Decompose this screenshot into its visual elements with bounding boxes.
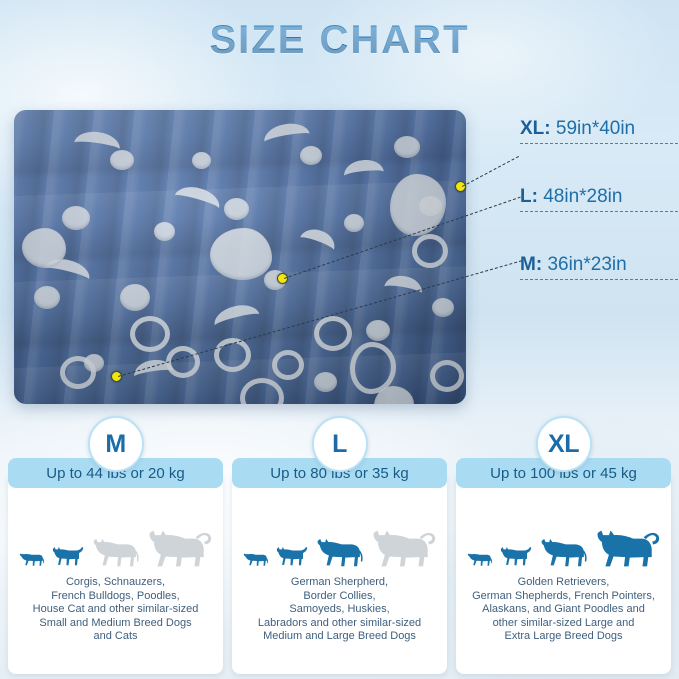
dog-silhouette-1-active	[467, 551, 497, 570]
size-label-l-underline	[520, 211, 678, 212]
breed-line: House Cat and other similar-sized	[33, 603, 199, 617]
size-label-l-prefix: L:	[520, 186, 538, 207]
breed-line: Golden Retrievers,	[472, 576, 655, 590]
size-label-m-underline	[520, 279, 678, 280]
dog-silhouette-3-active	[541, 537, 593, 570]
dog-silhouette-2-active	[51, 545, 91, 570]
size-marker-l	[277, 273, 288, 284]
breed-line: and Cats	[33, 630, 199, 644]
breed-description-m: Corgis, Schnauzers,French Bulldogs, Pood…	[25, 576, 207, 644]
breed-line: Corgis, Schnauzers,	[33, 576, 199, 590]
size-label-m-prefix: M:	[520, 254, 542, 275]
product-image-wrap	[14, 110, 466, 404]
breed-line: Extra Large Breed Dogs	[472, 630, 655, 644]
dog-silhouette-2-active	[499, 545, 539, 570]
size-label-m-dims: 36in*23in	[547, 254, 626, 275]
size-panel-l[interactable]: L Up to 80 lbs or 35 kg German Sherpherd…	[232, 452, 447, 674]
breed-description-l: German Sherpherd,Border Collies,Samoyeds…	[250, 576, 429, 644]
mat-shading	[14, 110, 466, 404]
size-badge-xl: XL	[536, 416, 592, 472]
size-label-xl-underline	[520, 143, 678, 144]
size-label-xl-prefix: XL:	[520, 118, 551, 139]
breed-line: Small and Medium Breed Dogs	[33, 617, 199, 631]
panel-body-xl: Golden Retrievers,German Shepherds, Fren…	[456, 472, 671, 674]
size-badge-l: L	[312, 416, 368, 472]
size-marker-xl	[455, 181, 466, 192]
breed-line: other similar-sized Large and	[472, 617, 655, 631]
size-label-l-dims: 48in*28in	[543, 186, 622, 207]
dog-silhouettes-l	[232, 502, 447, 570]
dog-silhouettes-m	[8, 502, 223, 570]
dog-silhouette-3-inactive	[93, 537, 145, 570]
size-label-xl-dims: 59in*40in	[556, 118, 635, 139]
breed-line: German Sherpherd,	[258, 576, 421, 590]
size-label-m: M: 36in*23in	[520, 254, 679, 280]
dog-silhouette-1-active	[243, 551, 273, 570]
size-panel-xl[interactable]: XL Up to 100 lbs or 45 kg Golden Retriev…	[456, 452, 671, 674]
dog-bed-mat-image	[14, 110, 466, 404]
breed-line: French Bulldogs, Poodles,	[33, 590, 199, 604]
breed-line: Samoyeds, Huskies,	[258, 603, 421, 617]
dog-silhouette-4-inactive	[371, 528, 437, 570]
panel-body-m: Corgis, Schnauzers,French Bulldogs, Pood…	[8, 472, 223, 674]
breed-line: German Shepherds, French Pointers,	[472, 590, 655, 604]
page-title: SIZE CHART	[0, 18, 679, 63]
leader-line-xl	[462, 156, 519, 187]
size-label-l: L: 48in*28in	[520, 186, 679, 212]
size-panel-m[interactable]: M Up to 44 lbs or 20 kg Corgis, Schnauze…	[8, 452, 223, 674]
size-panel-list: M Up to 44 lbs or 20 kg Corgis, Schnauze…	[8, 452, 671, 674]
breed-line: Medium and Large Breed Dogs	[258, 630, 421, 644]
dog-silhouette-1-active	[19, 551, 49, 570]
breed-line: Border Collies,	[258, 590, 421, 604]
breed-description-xl: Golden Retrievers,German Shepherds, Fren…	[464, 576, 663, 644]
dog-silhouette-2-active	[275, 545, 315, 570]
dog-silhouette-3-active	[317, 537, 369, 570]
dog-silhouette-4-active	[595, 528, 661, 570]
dog-silhouette-4-inactive	[147, 528, 213, 570]
dog-silhouettes-xl	[456, 502, 671, 570]
size-marker-m	[111, 371, 122, 382]
size-label-xl: XL: 59in*40in	[520, 118, 679, 144]
panel-body-l: German Sherpherd,Border Collies,Samoyeds…	[232, 472, 447, 674]
breed-line: Labradors and other similar-sized	[258, 617, 421, 631]
size-badge-m: M	[88, 416, 144, 472]
breed-line: Alaskans, and Giant Poodles and	[472, 603, 655, 617]
